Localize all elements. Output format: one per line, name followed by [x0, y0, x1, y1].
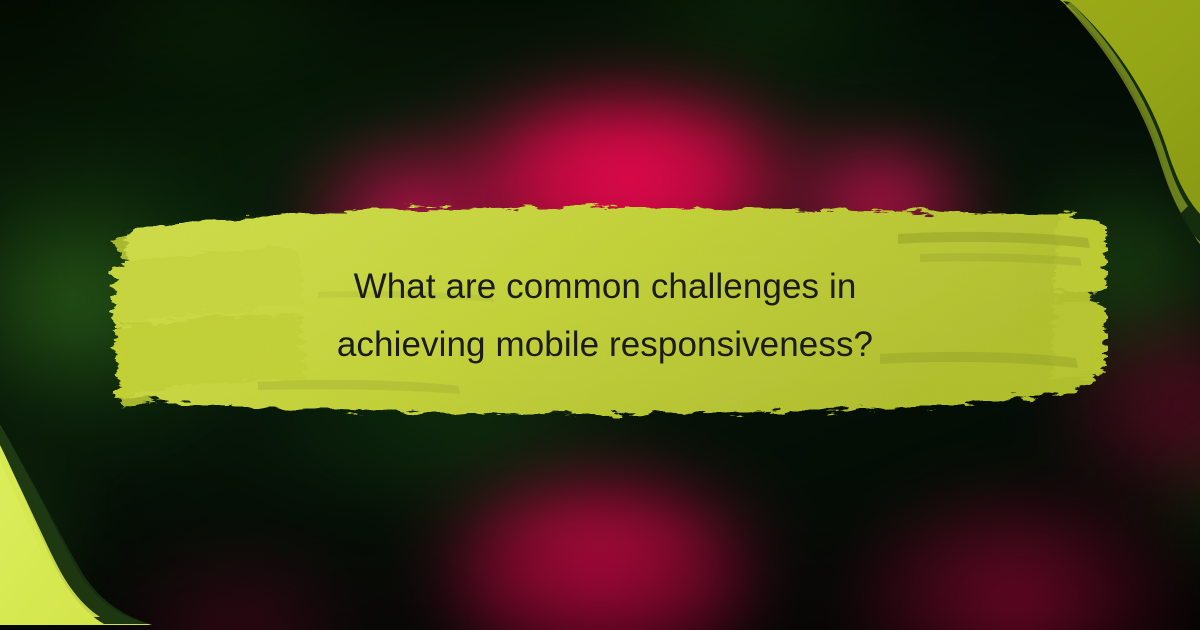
- question-card: What are common challenges in achieving …: [0, 0, 1200, 630]
- page-title: What are common challenges in achieving …: [155, 258, 1055, 374]
